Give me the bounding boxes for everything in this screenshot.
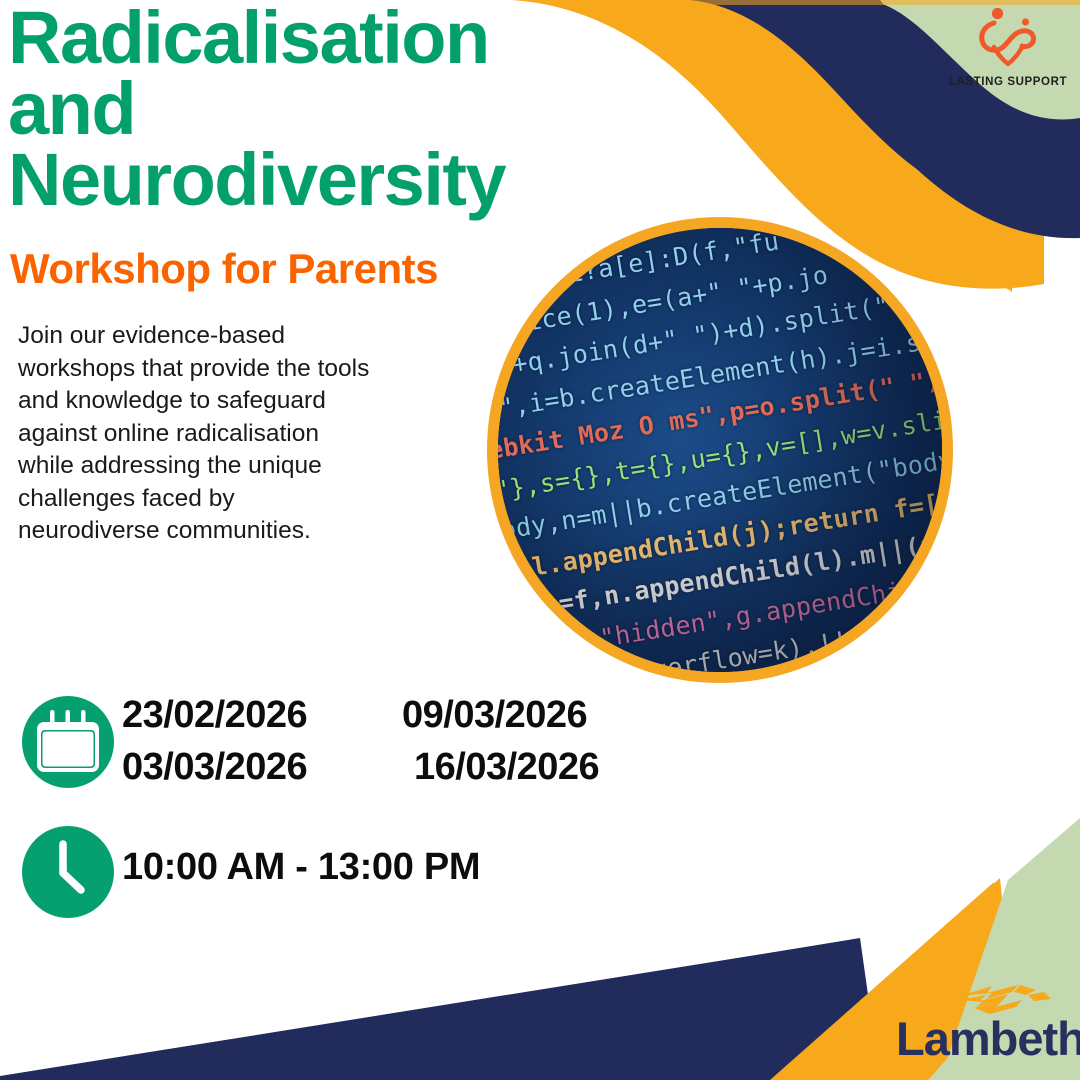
description-paragraph: Join our evidence-based workshops that p…: [18, 320, 418, 548]
title-line-2: and: [8, 73, 628, 144]
title-line-1: Radicalisation: [8, 2, 628, 73]
description-line: neurodiverse communities.: [18, 515, 418, 548]
clock-icon: [22, 826, 114, 918]
lasting-support-name: LASTING SUPPORT: [948, 76, 1068, 88]
description-line: challenges faced by: [18, 483, 418, 516]
date-item: 09/03/2026: [402, 692, 599, 738]
date-item: 23/02/2026: [122, 692, 402, 738]
lambeth-name: Lambeth: [896, 1015, 1058, 1062]
description-line: while addressing the unique: [18, 450, 418, 483]
bottom-navy-triangle-2: [0, 938, 880, 1080]
lambeth-logo: Lambeth: [878, 983, 1058, 1062]
lasting-support-logo: LASTING SUPPORT: [948, 6, 1068, 88]
title-line-3: Neurodiversity: [8, 144, 628, 215]
bottom-navy-triangle: [0, 948, 800, 1080]
infinity-heart-icon: [972, 6, 1044, 70]
code-photo-circle: a&&j[e]!==c)retur rn d===!1?a[e]:D(f,"fu…: [487, 217, 953, 683]
photo-vignette: [498, 228, 942, 672]
description-line: Join our evidence-based: [18, 320, 418, 353]
calendar-icon: [22, 696, 114, 788]
top-orange-strip: [560, 0, 1080, 5]
dates-list: 23/02/2026 09/03/2026 03/03/2026 16/03/2…: [122, 692, 599, 791]
poster-canvas: Radicalisation and Neurodiversity Worksh…: [0, 0, 1080, 1080]
date-item: 03/03/2026: [122, 744, 402, 790]
description-line: and knowledge to safeguard: [18, 385, 418, 418]
date-item: 16/03/2026: [402, 744, 599, 790]
time-range: 10:00 AM - 13:00 PM: [122, 846, 480, 889]
description-line: workshops that provide the tools: [18, 353, 418, 386]
page-subtitle: Workshop for Parents: [10, 248, 438, 290]
description-line: against online radicalisation: [18, 418, 418, 451]
page-title: Radicalisation and Neurodiversity: [8, 2, 628, 215]
